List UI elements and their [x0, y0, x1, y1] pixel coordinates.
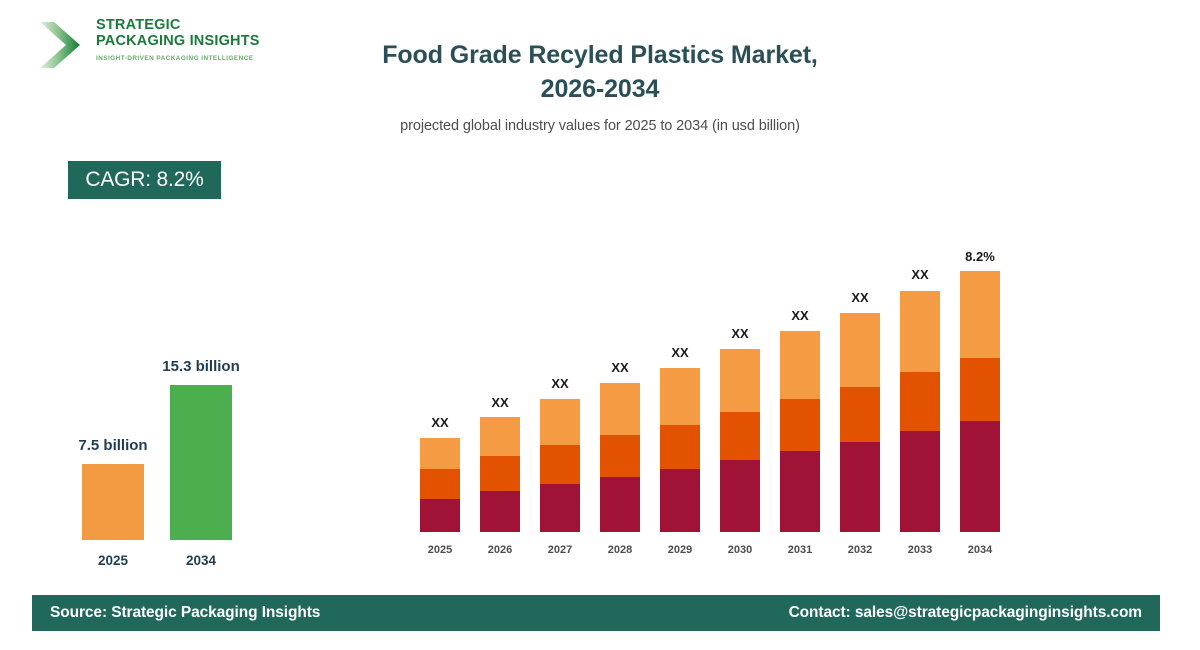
stacked-bar-segment-segment-bottom	[540, 484, 580, 532]
stacked-bar-segment-segment-middle	[720, 412, 760, 460]
footer-contact: Contact: sales@strategicpackaginginsight…	[789, 604, 1142, 622]
summary-bar-value-2025: 7.5 billion	[48, 437, 178, 454]
stacked-bar-stack	[960, 271, 1000, 532]
stacked-bar-value-label-2030: XX	[695, 326, 785, 341]
stacked-bar-segment-segment-bottom	[660, 469, 700, 532]
stacked-bar-stack	[480, 417, 520, 532]
chart-page: STRATEGIC PACKAGING INSIGHTS INSIGHT-DRI…	[0, 0, 1200, 650]
stacked-bar-category-2030: 2030	[720, 544, 760, 556]
stacked-bar-stack	[900, 291, 940, 532]
stacked-bar-category-2026: 2026	[480, 544, 520, 556]
stacked-bar-segment-segment-top	[840, 313, 880, 387]
stacked-bar-segment-segment-bottom	[960, 421, 1000, 532]
stacked-bar-category-2029: 2029	[660, 544, 700, 556]
page-subtitle: projected global industry values for 202…	[300, 118, 900, 134]
stacked-bar-segment-segment-middle	[540, 445, 580, 484]
stacked-bar-segment-segment-top	[720, 349, 760, 412]
stacked-bar-stack	[840, 313, 880, 532]
stacked-bar-category-2034: 2034	[960, 544, 1000, 556]
summary-bar-value-2034: 15.3 billion	[136, 358, 266, 375]
summary-bar-category-2025: 2025	[82, 553, 144, 568]
stacked-bar-value-label-2033: XX	[875, 267, 965, 282]
brand-name-line1: STRATEGIC	[96, 18, 266, 34]
stacked-bar-segment-segment-middle	[600, 435, 640, 477]
stacked-bar-category-2028: 2028	[600, 544, 640, 556]
stacked-bar-segment-segment-middle	[780, 399, 820, 451]
stacked-bar-segment-segment-top	[540, 399, 580, 445]
stacked-bar-value-label-2026: XX	[455, 395, 545, 410]
stacked-bar-category-2025: 2025	[420, 544, 460, 556]
stacked-bar-value-label-2029: XX	[635, 345, 725, 360]
stacked-bar-segment-segment-middle	[840, 387, 880, 442]
stacked-bar-segment-segment-bottom	[480, 491, 520, 532]
stacked-bar-segment-segment-top	[420, 438, 460, 469]
chevron-right-logo-icon	[36, 20, 84, 70]
stacked-bar-stack	[660, 368, 700, 532]
stacked-bar-segment-segment-middle	[480, 456, 520, 491]
stacked-bar-segment-segment-bottom	[720, 460, 760, 532]
stacked-bar-segment-segment-middle	[900, 372, 940, 431]
brand-logo-text: STRATEGIC PACKAGING INSIGHTS INSIGHT-DRI…	[96, 18, 266, 62]
stacked-bar-value-label-2031: XX	[755, 308, 845, 323]
summary-bar-rect-2034	[170, 385, 232, 540]
stacked-bar-stack	[540, 399, 580, 532]
brand-logo: STRATEGIC PACKAGING INSIGHTS INSIGHT-DRI…	[32, 16, 262, 78]
stacked-bar-segment-segment-bottom	[420, 499, 460, 532]
stacked-bar-segment-segment-bottom	[900, 431, 940, 532]
stacked-bar-category-2033: 2033	[900, 544, 940, 556]
stacked-bar-segment-segment-top	[900, 291, 940, 372]
summary-bar-chart: 7.5 billion 15.3 billion 2025 2034	[50, 300, 290, 570]
stacked-bar-stack	[720, 349, 760, 532]
page-title-line2: 2026-2034	[300, 72, 900, 106]
summary-bar-category-2034: 2034	[170, 553, 232, 568]
stacked-bar-segment-segment-middle	[660, 425, 700, 469]
footer-source: Source: Strategic Packaging Insights	[50, 604, 320, 622]
stacked-bar-segment-segment-middle	[420, 469, 460, 499]
stacked-bar-category-2032: 2032	[840, 544, 880, 556]
cagr-badge: CAGR: 8.2%	[68, 161, 221, 199]
stacked-bar-stack	[600, 383, 640, 532]
brand-tagline: INSIGHT-DRIVEN PACKAGING INTELLIGENCE	[96, 55, 266, 62]
footer-bar: Source: Strategic Packaging Insights Con…	[32, 595, 1160, 631]
stacked-bar-segment-segment-top	[660, 368, 700, 425]
stacked-bar-segment-segment-middle	[960, 358, 1000, 421]
stacked-bar-value-label-2025: XX	[395, 415, 485, 430]
stacked-bar-segment-segment-top	[600, 383, 640, 435]
stacked-bar-segment-segment-top	[780, 331, 820, 399]
stacked-bar-segment-segment-bottom	[600, 477, 640, 532]
stacked-bar-stack	[780, 331, 820, 532]
stacked-bar-value-label-2028: XX	[575, 360, 665, 375]
stacked-bar-value-label-2034: 8.2%	[935, 249, 1025, 264]
summary-bar-rect-2025	[82, 464, 144, 540]
stacked-bar-category-2031: 2031	[780, 544, 820, 556]
stacked-bar-segment-segment-bottom	[780, 451, 820, 532]
stacked-bar-stack	[420, 438, 460, 532]
forecast-stacked-bar-chart: XX2025XX2026XX2027XX2028XX2029XX2030XX20…	[408, 200, 1008, 560]
brand-name-line2: PACKAGING INSIGHTS	[96, 34, 266, 50]
page-title-block: Food Grade Recyled Plastics Market, 2026…	[300, 38, 900, 134]
stacked-bar-segment-segment-top	[480, 417, 520, 456]
stacked-bar-category-2027: 2027	[540, 544, 580, 556]
stacked-bar-segment-segment-top	[960, 271, 1000, 358]
stacked-bar-value-label-2027: XX	[515, 376, 605, 391]
stacked-bar-segment-segment-bottom	[840, 442, 880, 532]
page-title-line1: Food Grade Recyled Plastics Market,	[300, 38, 900, 72]
stacked-bar-value-label-2032: XX	[815, 290, 905, 305]
